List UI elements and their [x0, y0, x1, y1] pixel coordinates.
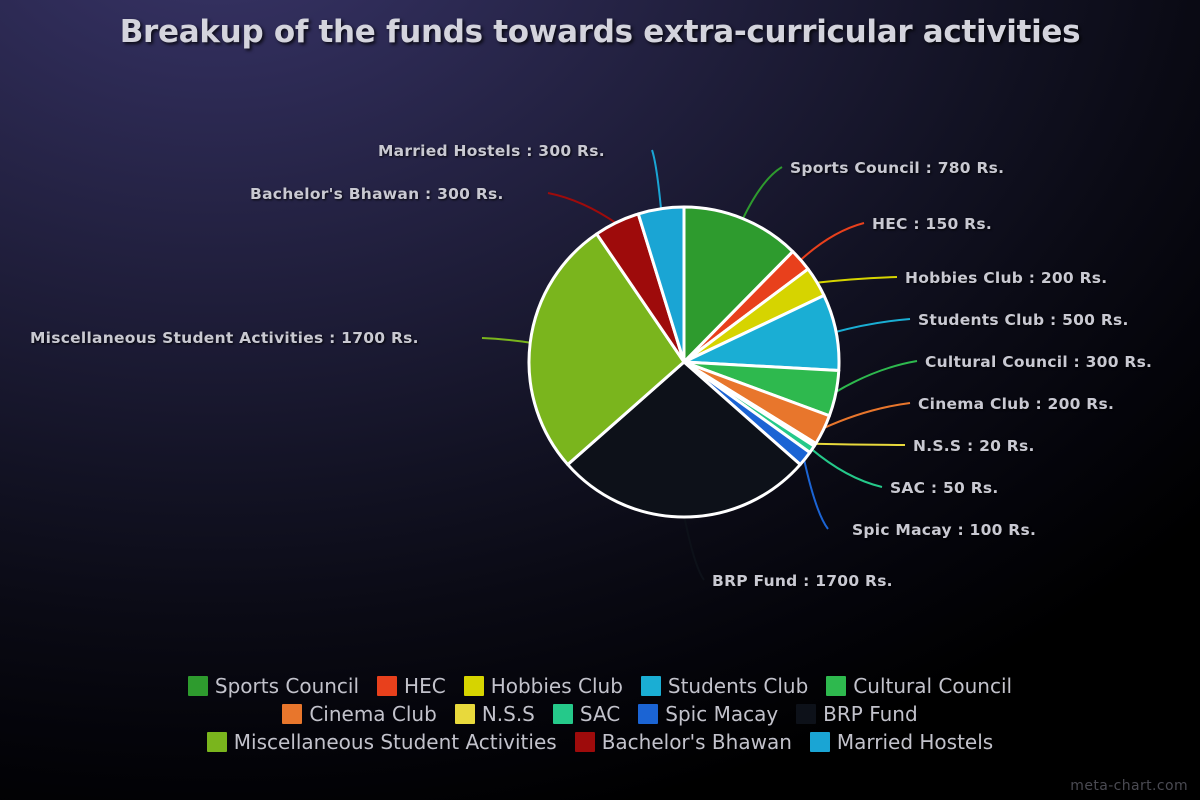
legend-item[interactable]: Cinema Club	[282, 702, 437, 726]
callout-married_hostels: Married Hostels : 300 Rs.	[378, 142, 605, 160]
legend-item[interactable]: Spic Macay	[638, 702, 778, 726]
legend-item[interactable]: Cultural Council	[826, 674, 1012, 698]
legend-swatch-icon	[553, 704, 573, 724]
callout-miscellaneous: Miscellaneous Student Activities : 1700 …	[30, 329, 419, 347]
legend-item[interactable]: N.S.S	[455, 702, 535, 726]
legend-swatch-icon	[796, 704, 816, 724]
legend-swatch-icon	[188, 676, 208, 696]
leader-line-spic_macay	[804, 457, 828, 529]
legend-item[interactable]: HEC	[377, 674, 446, 698]
leader-line-hobbies_club	[815, 277, 897, 283]
legend-label: Married Hostels	[837, 730, 993, 754]
leader-line-sac	[810, 448, 882, 487]
leader-line-miscellaneous	[482, 338, 532, 343]
legend-item[interactable]: Students Club	[641, 674, 808, 698]
legend-label: SAC	[580, 702, 620, 726]
legend-row: Sports CouncilHECHobbies ClubStudents Cl…	[0, 672, 1200, 700]
callout-spic_macay: Spic Macay : 100 Rs.	[852, 521, 1036, 539]
callout-bachelors_bhawan: Bachelor's Bhawan : 300 Rs.	[250, 185, 504, 203]
legend-swatch-icon	[641, 676, 661, 696]
callout-cultural_council: Cultural Council : 300 Rs.	[925, 353, 1152, 371]
legend-item[interactable]: Married Hostels	[810, 730, 993, 754]
callout-students_club: Students Club : 500 Rs.	[918, 311, 1129, 329]
legend-swatch-icon	[638, 704, 658, 724]
leader-line-sports_council	[742, 167, 782, 220]
legend-item[interactable]: Miscellaneous Student Activities	[207, 730, 557, 754]
callout-sports_council: Sports Council : 780 Rs.	[790, 159, 1004, 177]
legend-item[interactable]: Hobbies Club	[464, 674, 623, 698]
legend-label: Cultural Council	[853, 674, 1012, 698]
legend-label: N.S.S	[482, 702, 535, 726]
leader-line-bachelors_bhawan	[548, 193, 618, 224]
legend-label: HEC	[404, 674, 446, 698]
callout-nss: N.S.S : 20 Rs.	[913, 437, 1035, 455]
legend-item[interactable]: Bachelor's Bhawan	[575, 730, 792, 754]
legend-label: Sports Council	[215, 674, 359, 698]
legend-item[interactable]: Sports Council	[188, 674, 359, 698]
leader-line-students_club	[834, 319, 910, 332]
legend-label: Hobbies Club	[491, 674, 623, 698]
leader-line-cultural_council	[834, 361, 917, 393]
legend-swatch-icon	[455, 704, 475, 724]
legend-label: Spic Macay	[665, 702, 778, 726]
leader-line-brp_fund	[684, 515, 704, 580]
legend-swatch-icon	[464, 676, 484, 696]
leader-line-cinema_club	[822, 403, 911, 429]
legend-label: Cinema Club	[309, 702, 437, 726]
legend-label: BRP Fund	[823, 702, 918, 726]
callout-brp_fund: BRP Fund : 1700 Rs.	[712, 572, 893, 590]
legend-swatch-icon	[377, 676, 397, 696]
legend-label: Bachelor's Bhawan	[602, 730, 792, 754]
legend-swatch-icon	[810, 732, 830, 752]
legend-swatch-icon	[575, 732, 595, 752]
leader-line-hec	[799, 223, 864, 261]
leader-line-nss	[813, 444, 905, 445]
callout-hobbies_club: Hobbies Club : 200 Rs.	[905, 269, 1107, 287]
legend-label: Students Club	[668, 674, 808, 698]
legend-swatch-icon	[207, 732, 227, 752]
legend-row: Miscellaneous Student ActivitiesBachelor…	[0, 728, 1200, 756]
watermark-text: meta-chart.com	[1070, 778, 1188, 794]
callout-cinema_club: Cinema Club : 200 Rs.	[918, 395, 1114, 413]
pie-chart-canvas: Breakup of the funds towards extra-curri…	[0, 0, 1200, 800]
callout-sac: SAC : 50 Rs.	[890, 479, 999, 497]
leader-line-married_hostels	[652, 150, 661, 211]
pie-slices-group	[529, 207, 839, 517]
chart-legend: Sports CouncilHECHobbies ClubStudents Cl…	[0, 672, 1200, 756]
legend-item[interactable]: BRP Fund	[796, 702, 918, 726]
legend-label: Miscellaneous Student Activities	[234, 730, 557, 754]
legend-swatch-icon	[282, 704, 302, 724]
legend-swatch-icon	[826, 676, 846, 696]
legend-item[interactable]: SAC	[553, 702, 620, 726]
legend-row: Cinema ClubN.S.SSACSpic MacayBRP Fund	[0, 700, 1200, 728]
callout-hec: HEC : 150 Rs.	[872, 215, 992, 233]
